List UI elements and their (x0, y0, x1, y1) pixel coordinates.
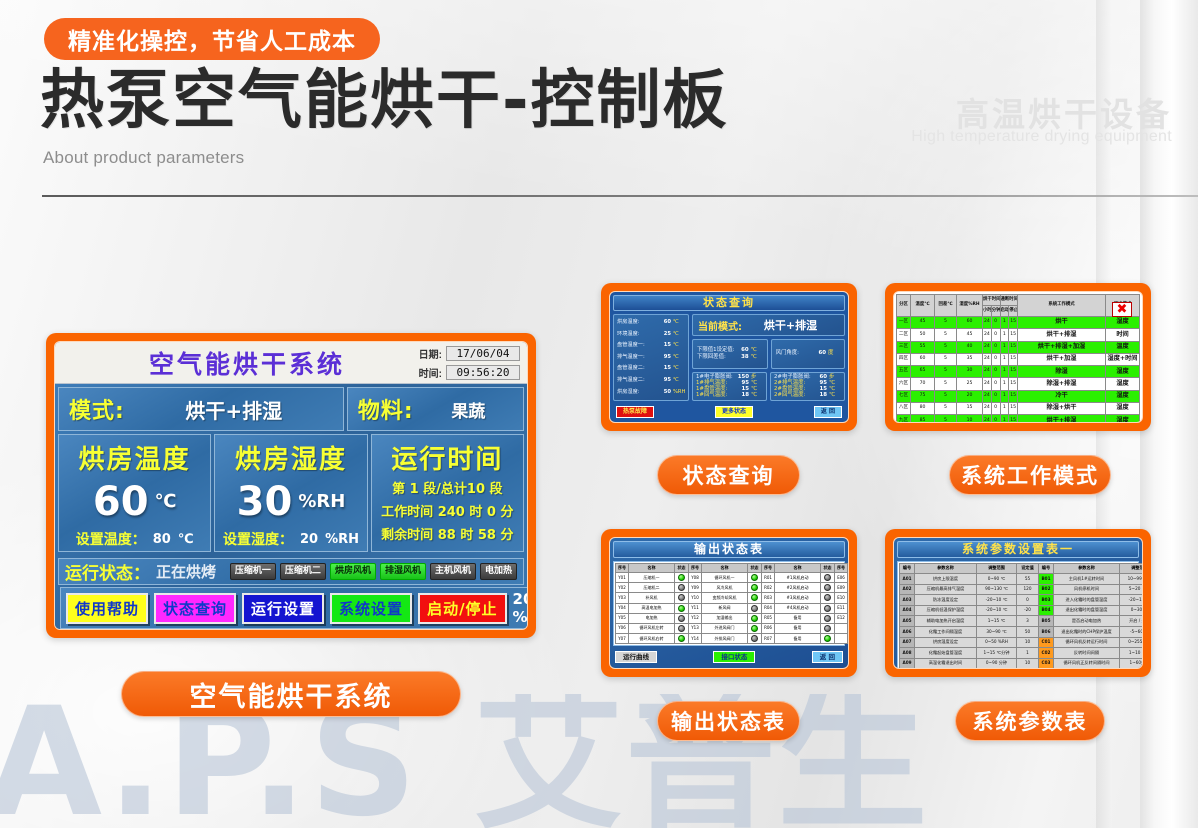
table-header: 参数名称 (915, 564, 977, 574)
table-cell: 15 (1009, 353, 1018, 365)
reading-row: 烘房温度:60℃ (614, 320, 688, 325)
table-cell: 八区 (897, 403, 911, 415)
table-cell: 15 (1009, 390, 1018, 402)
table-cell-name: 循环风机正反转间隔时间 (1054, 658, 1120, 669)
table-header: 编号 (1039, 564, 1054, 574)
table-cell (821, 613, 835, 623)
table-cell: 备用 (775, 634, 821, 644)
table-cell: Y11 (689, 603, 702, 613)
mode-label: 模式: (59, 393, 125, 425)
reading-row: 排气温度一:95℃ (614, 355, 688, 360)
status-setpoint-group-a: 下限值1设定值:60℃下限回差值:38℃ (692, 339, 768, 369)
table-row: A05辅助电加热开启温度1~15 ℃3B05是否启动电加热开启 / 关闭开启 (900, 616, 1144, 627)
table-cell: 1 (1000, 415, 1009, 423)
temperature-heading: 烘房温度 (59, 435, 210, 476)
reading-unit: ℃ (829, 393, 841, 398)
main-button[interactable]: 使用帮助 (66, 593, 148, 624)
temperature-cell[interactable]: 烘房温度 60 ℃ 设置温度： 80 ℃ (58, 434, 211, 552)
status-indicator-dot (824, 605, 831, 612)
table-cell-id: C03 (1039, 658, 1054, 669)
table-cell-range: -5~60 ℃ (1120, 626, 1144, 637)
table-cell: 二区 (897, 329, 911, 341)
reading-unit: ℃ (673, 378, 685, 383)
runtime-cell[interactable]: 运行时间 第 1 段/总计10 段 工作时间 240 时 0 分 剩余时间 88… (371, 434, 524, 552)
table-cell (821, 603, 835, 613)
reading-label: 烘房湿度: (617, 390, 657, 395)
table-cell: Y02 (616, 583, 629, 593)
table-cell: 0 (991, 415, 1000, 423)
table-row: Y07循环风机右转Y14外排风阀门R07备用 (616, 634, 850, 644)
main-button[interactable]: 状态查询 (154, 593, 236, 624)
mode-cell[interactable]: 模式: 烘干+排湿 (58, 387, 344, 431)
humidity-value: 30 (237, 479, 293, 525)
table-row: A06化霜工作间隔温度30~90 ℃50B06退出化霜时的CHP保护温度-5~6… (900, 626, 1144, 637)
reading-value: 95 (659, 378, 671, 383)
status-panel-button[interactable]: 热泵故障 (616, 406, 654, 418)
reading-unit: ℃ (673, 366, 685, 371)
reading-unit: %RH (673, 390, 685, 395)
status-indicator-dot (751, 615, 758, 622)
table-cell: 新风阀 (702, 603, 748, 613)
reading-value: 18 (815, 393, 827, 398)
table-row: 九区85510240115烘干+排湿湿度 (897, 415, 1140, 423)
table-cell-mode: 烘干+加湿 (1018, 353, 1106, 365)
table-cell: 50 (911, 329, 935, 341)
table-cell (821, 634, 835, 644)
device-indicator: 排湿风机 (380, 563, 426, 580)
table-header: 编号 (900, 564, 915, 574)
table-cell: E11 (835, 603, 848, 613)
table-row: Y04高温电加热Y11新风阀R04#4风机启动E11备用 (616, 603, 850, 613)
status-indicator-dot (824, 594, 831, 601)
status-mode-value: 烘干+排湿 (742, 317, 839, 333)
table-cell-mode: 冷干 (1018, 390, 1106, 402)
table-cell-name: 辅助电加热开启温度 (915, 616, 977, 627)
table-cell: 24 (983, 353, 992, 365)
status-current-mode: 当前模式: 烘干+排湿 (692, 314, 845, 336)
table-cell: 15 (1009, 415, 1018, 423)
device-indicator: 压缩机一 (230, 563, 276, 580)
table-cell-mode: 烘干 (1018, 317, 1106, 329)
table-cell: 15 (1009, 329, 1018, 341)
header-ghost-text-en: High temperature drying equipment (911, 128, 1172, 146)
table-cell (821, 573, 835, 583)
status-indicator-dot (751, 584, 758, 591)
status-indicator-dot (678, 574, 685, 581)
table-cell-value[interactable]: 3 (1017, 616, 1039, 627)
table-cell: 备用 (848, 603, 850, 613)
output-panel-title: 输出状态表 (613, 541, 845, 558)
table-cell (675, 623, 689, 633)
table-cell-exit: 温度 (1106, 341, 1140, 353)
table-cell (848, 634, 850, 644)
table-cell-exit: 湿度+时间 (1106, 353, 1140, 365)
table-cell: 24 (983, 341, 992, 353)
table-cell-value[interactable]: 10 (1017, 658, 1039, 669)
table-cell-mode: 除湿 (1018, 366, 1106, 378)
table-cell-name: 风机停机时间 (1054, 584, 1120, 595)
caption-status-panel: 状态查询 (657, 455, 800, 495)
reading-value: 60 (737, 348, 749, 353)
table-header: 名称 (702, 564, 748, 573)
table-cell: 1 (1000, 341, 1009, 353)
table-cell: 20 (957, 390, 983, 402)
header-divider (42, 195, 1198, 197)
table-row: A09高温化霜退出时间0~90 分钟10C03循环风机正反转间隔时间1~60分钟… (900, 658, 1144, 669)
table-cell-range: 10~99 分钟 (1120, 574, 1144, 585)
output-panel-button[interactable]: 运行曲线 (615, 651, 657, 664)
table-cell: 备用 (848, 573, 850, 583)
reading-unit: ℃ (751, 348, 763, 353)
table-cell: Y03 (616, 593, 629, 603)
table-cell: E12 (835, 613, 848, 623)
reading-row: 盘管温度二:15℃ (614, 366, 688, 371)
table-cell-range: 1~15 ℃分钟 (977, 648, 1017, 659)
table-cell-mode: 烘干+排湿 (1018, 329, 1106, 341)
table-cell: 5 (935, 329, 957, 341)
table-cell: R03 (762, 593, 775, 603)
table-header: 调整范围 (977, 564, 1017, 574)
status-query-panel[interactable]: 状态查询 烘房温度:60℃环境温度:25℃盘管温度一:15℃排气温度一:95℃盘… (601, 283, 857, 431)
reading-row: 下限值1设定值:60℃ (693, 347, 767, 354)
table-subheader: 分钟 (991, 306, 1000, 317)
table-cell: 70 (911, 378, 935, 390)
table-cell-value[interactable]: 50 (1017, 626, 1039, 637)
param-panel-title: 系统参数设置表一 (897, 541, 1139, 558)
main-button[interactable]: 运行设置 (242, 593, 324, 624)
table-cell: #4风机启动 (775, 603, 821, 613)
table-header: 序号 (689, 564, 702, 573)
table-cell: 5 (935, 353, 957, 365)
reading-label: 环境温度: (617, 332, 657, 337)
humidity-set-value[interactable]: 20 (300, 532, 318, 547)
system-parameter-table: 编号参数名称调整范围设定值编号参数名称调整范围设定值A01烘房上限温度0~90 … (899, 563, 1143, 669)
table-cell: Y07 (616, 634, 629, 644)
table-cell-range: 1~15 ℃ (977, 616, 1017, 627)
output-panel-button[interactable]: 接口状态 (713, 651, 755, 664)
table-cell-name: 主风机1#运转时间 (1054, 574, 1120, 585)
table-cell-range: 0~90 分钟 (977, 658, 1017, 669)
table-cell-range: 0~30 ℃ (1120, 605, 1144, 616)
table-subheader: 停止 (1009, 306, 1018, 317)
table-cell-exit: 湿度 (1106, 415, 1140, 423)
table-header: 分区 (897, 295, 911, 317)
table-cell: 24 (983, 317, 992, 329)
table-cell-range: 1~10 分钟 (1120, 648, 1144, 659)
device-indicator: 烘房风机 (330, 563, 376, 580)
table-cell: Y08 (689, 573, 702, 583)
table-cell-range: 开启 / 关闭 (1120, 616, 1144, 627)
table-header: 烘干时间设置 (983, 295, 1001, 306)
table-cell: Y01 (616, 573, 629, 583)
table-cell: 0 (991, 403, 1000, 415)
table-cell (821, 593, 835, 603)
material-value: 果蔬 (414, 397, 523, 422)
table-cell-name: 烘房湿度设定 (915, 637, 977, 648)
table-cell: 六区 (897, 378, 911, 390)
temperature-set-value[interactable]: 80 (153, 532, 171, 547)
table-row: A01烘房上限温度0~90 ℃55B01主风机1#运转时间10~99 分钟45 (900, 574, 1144, 585)
table-cell: 15 (957, 403, 983, 415)
table-cell: 1 (1000, 317, 1009, 329)
table-cell-id: A09 (900, 658, 915, 669)
table-cell: R05 (762, 613, 775, 623)
status-indicator-dot (678, 635, 685, 642)
table-header: 序号 (762, 564, 775, 573)
reading-value: 15 (659, 366, 671, 371)
table-cell: 10 (957, 415, 983, 423)
table-header: 序号 (835, 564, 848, 573)
status-panel-button[interactable]: 返 回 (814, 406, 842, 418)
table-cell-id: C02 (1039, 648, 1054, 659)
table-subheader: 启动 (1000, 306, 1009, 317)
runtime-heading: 运行时间 (372, 435, 523, 476)
table-cell-id: B01 (1039, 574, 1054, 585)
device-indicator: 压缩机二 (280, 563, 326, 580)
reading-unit: ℃ (751, 355, 763, 360)
table-cell: 循环风机一 (702, 573, 748, 583)
table-cell-id: A03 (900, 595, 915, 606)
system-parameter-panel[interactable]: 系统参数设置表一 编号参数名称调整范围设定值编号参数名称调整范围设定值A01烘房… (885, 529, 1151, 677)
table-cell: 45 (957, 329, 983, 341)
table-cell-value[interactable]: 120 (1017, 584, 1039, 595)
table-cell: Y09 (689, 583, 702, 593)
caption-main-panel: 空气能烘干系统 (121, 671, 461, 717)
status-setpoint-group-b: 风门角度:60度 (771, 339, 845, 369)
reading-label: 下限回差值: (697, 355, 735, 360)
table-subheader: 小时 (983, 306, 992, 317)
reading-label: 风门角度: (776, 351, 812, 356)
output-status-table: 序号名称状态序号名称状态序号名称状态序号名称状态Y01压缩机一Y08循环风机一R… (615, 563, 849, 644)
main-button[interactable]: 系统设置 (330, 593, 412, 624)
page-header: 精准化操控，节省人工成本 热泵空气能烘干-控制板 About product p… (0, 0, 1198, 186)
table-cell: 24 (983, 329, 992, 341)
table-cell-name: 进入化霜时的盘管温度 (1054, 595, 1120, 606)
table-header: 温度℃ (911, 295, 935, 317)
reading-value: 15 (659, 343, 671, 348)
table-cell: 1 (1000, 329, 1009, 341)
table-cell: 30 (957, 366, 983, 378)
table-cell: 备用 (775, 623, 821, 633)
table-cell (748, 603, 762, 613)
main-hmi-panel[interactable]: 空气能烘干系统 日期: 17/06/04 时间: 09:56:20 模式: 烘干… (46, 333, 536, 638)
table-cell-id: B05 (1039, 616, 1054, 627)
table-cell (675, 583, 689, 593)
table-cell-value[interactable]: -20 (1017, 605, 1039, 616)
reading-row: 2#回气温度:18℃ (771, 393, 844, 398)
table-cell: 0 (991, 317, 1000, 329)
table-cell: 加湿输出 (702, 613, 748, 623)
table-header: 调整范围 (1120, 564, 1144, 574)
main-panel-title: 空气能烘干系统 (55, 345, 377, 381)
status-indicator-dot (678, 615, 685, 622)
table-cell: 0 (991, 366, 1000, 378)
table-cell (748, 634, 762, 644)
table-cell: 45 (911, 317, 935, 329)
reading-label: 盘管温度二: (617, 366, 657, 371)
table-cell: 5 (935, 403, 957, 415)
table-header: 参数名称 (1054, 564, 1120, 574)
table-cell: R01 (762, 573, 775, 583)
table-cell-value[interactable]: 55 (1017, 574, 1039, 585)
reading-unit: 度 (828, 351, 840, 356)
table-cell: 0 (991, 353, 1000, 365)
table-cell: Y10 (689, 593, 702, 603)
material-label: 物料: (348, 393, 414, 425)
table-cell: R02 (762, 583, 775, 593)
table-row: A03防冻温度设定-20~10 ℃0B03进入化霜时的盘管温度-20~15 ℃-… (900, 595, 1144, 606)
status-indicator-dot (678, 605, 685, 612)
temperature-set-label: 设置温度： (76, 529, 146, 549)
reading-label: 排气温度一: (617, 355, 657, 360)
table-header: 名称 (629, 564, 675, 573)
table-cell: 风冷风机 (702, 583, 748, 593)
table-cell-exit: 湿度 (1106, 317, 1140, 329)
table-row: 六区70525240115除湿+排湿湿度 (897, 378, 1140, 390)
table-header: 湿度%RH (957, 295, 983, 317)
table-cell-range: 5~20 分钟 (1120, 584, 1144, 595)
table-row: 二区50545240115烘干+排湿时间 (897, 329, 1140, 341)
humidity-cell[interactable]: 烘房湿度 30 %RH 设置湿度： 20 %RH (214, 434, 367, 552)
table-cell: 24 (983, 390, 992, 402)
status-indicator-dot (824, 635, 831, 642)
table-cell: 24 (983, 378, 992, 390)
table-cell-id: A07 (900, 637, 915, 648)
time-label: 时间: (419, 365, 442, 380)
humidity-set-unit: %RH (325, 532, 359, 547)
table-cell: 35 (957, 353, 983, 365)
table-cell (748, 573, 762, 583)
table-header: 通断时间设置 (1000, 295, 1018, 306)
output-status-panel[interactable]: 输出状态表 序号名称状态序号名称状态序号名称状态序号名称状态Y01压缩机一Y08… (601, 529, 857, 677)
temperature-set-unit: ℃ (178, 532, 194, 547)
status-panel-button[interactable]: 更多状态 (715, 406, 753, 418)
material-cell[interactable]: 物料: 果蔬 (347, 387, 524, 431)
reading-value: 50 (659, 390, 671, 395)
humidity-heading: 烘房湿度 (215, 435, 366, 476)
table-cell-id: C01 (1039, 637, 1054, 648)
table-cell-exit: 湿度 (1106, 378, 1140, 390)
temperature-unit: ℃ (155, 491, 177, 512)
table-header: 状态 (821, 564, 835, 573)
table-header: 系统工作模式 (1018, 295, 1106, 317)
reading-unit: ℃ (751, 393, 763, 398)
table-cell (675, 634, 689, 644)
table-cell: E09 (835, 583, 848, 593)
table-cell: Y14 (689, 634, 702, 644)
output-percent: 20 % (513, 590, 528, 626)
date-value: 17/06/04 (446, 346, 520, 361)
table-cell: 25 (957, 378, 983, 390)
table-cell: 0 (991, 378, 1000, 390)
table-header: 名称 (775, 564, 821, 573)
table-cell: #1风机启动 (775, 573, 821, 583)
work-mode-table: 分区温度℃回差℃湿度%RH烘干时间设置通断时间设置系统工作模式退出模式小时分钟启… (896, 294, 1140, 423)
table-cell: Y13 (689, 623, 702, 633)
reading-unit: ℃ (673, 320, 685, 325)
table-cell (675, 613, 689, 623)
table-row: 三区55540240115烘干+排湿+加湿温度 (897, 341, 1140, 353)
table-cell: 80 (911, 403, 935, 415)
table-cell: 15 (1009, 378, 1018, 390)
main-button[interactable]: 启动/停止 (418, 593, 506, 624)
table-cell (835, 634, 848, 644)
table-cell-value[interactable]: 10 (1017, 637, 1039, 648)
run-status-label: 运行状态： (65, 559, 150, 584)
table-cell-id: B04 (1039, 605, 1054, 616)
table-cell-id: A06 (900, 626, 915, 637)
table-cell: 九区 (897, 415, 911, 423)
table-cell: #3风机启动 (775, 593, 821, 603)
table-cell (748, 623, 762, 633)
table-cell (748, 613, 762, 623)
table-cell (748, 583, 762, 593)
table-cell-exit: 湿度 (1106, 366, 1140, 378)
table-cell-name: 循环风机反转运行时间 (1054, 637, 1120, 648)
table-cell: R04 (762, 603, 775, 613)
table-cell: 15 (1009, 403, 1018, 415)
reading-row: 1#回气温度:18℃ (693, 393, 766, 398)
main-panel-titlebar: 空气能烘干系统 日期: 17/06/04 时间: 09:56:20 (55, 342, 527, 384)
reading-label: 下限值1设定值: (697, 348, 735, 353)
table-cell: 60 (911, 353, 935, 365)
time-value: 09:56:20 (446, 365, 520, 380)
table-cell-name: 防冻温度设定 (915, 595, 977, 606)
status-indicator-dot (678, 625, 685, 632)
table-cell-name: 化霜工作间隔温度 (915, 626, 977, 637)
table-cell-value[interactable]: 1 (1017, 648, 1039, 659)
table-cell-name: 压缩机低温保护温度 (915, 605, 977, 616)
table-cell: 5 (935, 415, 957, 423)
reading-row: 排气温度二:95℃ (614, 378, 688, 383)
status-circuit2-readings: 2#电子膨胀阀:60步2#排气温度:95℃2#盘管温度:15℃2#回气温度:18… (770, 372, 845, 401)
system-work-mode-panel[interactable]: 分区温度℃回差℃湿度%RH烘干时间设置通断时间设置系统工作模式退出模式小时分钟启… (885, 283, 1151, 431)
table-cell: 15 (1009, 341, 1018, 353)
table-cell-range: 0~255分钟 (1120, 637, 1144, 648)
reading-row: 烘房湿度:50%RH (614, 390, 688, 395)
page-title: 热泵空气能烘干-控制板 (40, 66, 729, 136)
table-cell: 电加热 (629, 613, 675, 623)
runtime-segment: 第 1 段/总计10 段 (372, 476, 523, 499)
reading-label: 1#回气温度: (696, 393, 735, 398)
output-panel-button[interactable]: 返 回 (812, 651, 843, 664)
table-cell: 备用 (848, 613, 850, 623)
table-cell: 1 (1000, 366, 1009, 378)
run-status-bar: 运行状态： 正在烘烤 压缩机一压缩机二烘房风机排湿风机主机风机电加热 (58, 558, 524, 585)
table-cell (848, 623, 850, 633)
close-icon[interactable]: ✖ (1112, 302, 1132, 317)
humidity-set-label: 设置湿度： (223, 529, 293, 549)
table-cell-value[interactable]: 0 (1017, 595, 1039, 606)
table-cell: 5 (935, 366, 957, 378)
table-cell (675, 593, 689, 603)
temperature-value: 60 (93, 479, 149, 525)
table-cell: 补风机 (629, 593, 675, 603)
table-cell-range: -20~15 ℃ (1120, 595, 1144, 606)
table-cell: 高温电加热 (629, 603, 675, 613)
status-left-readings: 烘房温度:60℃环境温度:25℃盘管温度一:15℃排气温度一:95℃盘管温度二:… (613, 314, 689, 401)
table-cell: 5 (935, 317, 957, 329)
reading-value: 25 (659, 332, 671, 337)
table-row: A08化霜起始盘管温度1~15 ℃分钟1C02反转时间间隔1~10 分钟2 (900, 648, 1144, 659)
table-cell-id: B02 (1039, 584, 1054, 595)
reading-label: 排气温度二: (617, 378, 657, 383)
table-cell (675, 603, 689, 613)
table-cell: 外进风阀门 (702, 623, 748, 633)
table-row: A07烘房湿度设定0~50 %RH10C01循环风机反转运行时间0~255分钟1… (900, 637, 1144, 648)
table-row: Y03补风机Y10变频冷却风机R03#3风机启动E10备用 (616, 593, 850, 603)
table-cell-name: 压缩机最高排气温度 (915, 584, 977, 595)
